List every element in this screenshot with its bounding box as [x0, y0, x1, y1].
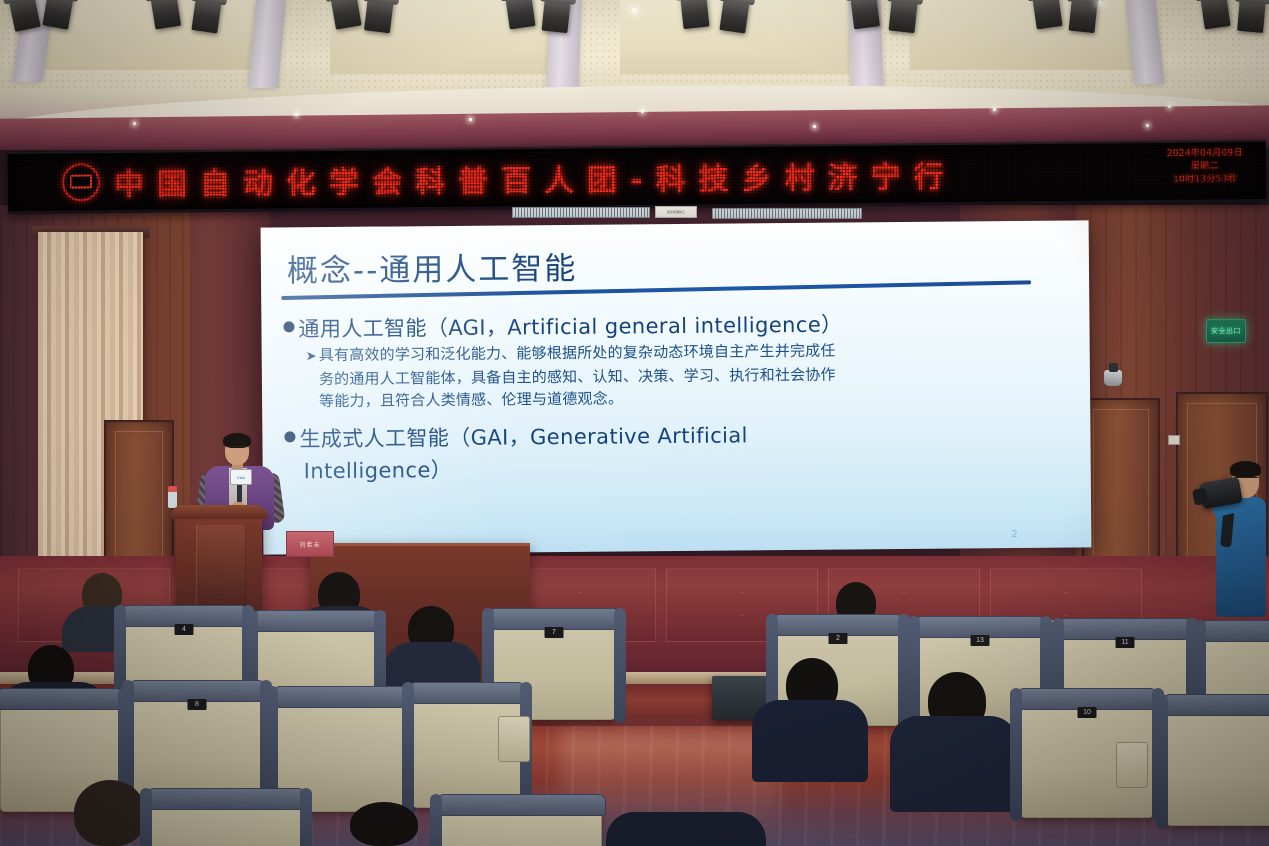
wall-switch-plate[interactable]: [1168, 435, 1180, 445]
led-banner: 中国自动化学会科普百人团-科技乡村济宁行 2024年04月09日 星期二 10时…: [8, 140, 1267, 214]
ceiling-spotlight: [542, 0, 571, 33]
subbullet-line-1-text: 具有高效的学习和泛化能力、能够根据所处的复杂动态环境自主产生并完成任: [319, 342, 836, 365]
seat[interactable]: [1166, 706, 1269, 826]
slide-bullet-2-line1: 生成式人工智能（GAI，Generative Artificial: [299, 419, 748, 453]
caa-emblem-icon: [62, 163, 100, 201]
podium-top: [170, 505, 268, 519]
seat-tray[interactable]: [1116, 742, 1148, 788]
slide-bullet-1-text: 通用人工智能（AGI，Artificial general intelligen…: [298, 309, 842, 344]
downlight: [1098, 0, 1103, 5]
wall-camera-icon: [1104, 370, 1122, 386]
downlight: [993, 108, 996, 111]
seat-number: 11: [1116, 637, 1135, 648]
slide-page-number: 2: [1012, 529, 1018, 540]
downlight: [632, 8, 637, 13]
subbullet-line-2-text: 务的通用人工智能体，具备自主的感知、认知、决策、学习、执行和社会协作: [319, 366, 836, 389]
seat-number: 7: [545, 627, 564, 638]
ceiling-spotlight: [150, 0, 181, 30]
seat[interactable]: [440, 806, 602, 846]
led-banner-text: 中国自动化学会科普百人团-科技乡村济宁行: [114, 151, 957, 203]
subbullet-line-3-text: 等能力，且符合人类情感、伦理与道德观念。: [319, 389, 623, 410]
downlight: [469, 118, 472, 121]
seat-number: 8: [188, 699, 207, 710]
audience-shoulder: [606, 812, 766, 846]
ceiling-spotlight: [330, 0, 362, 30]
name-card: 刘希未: [286, 531, 334, 557]
arrow-bullet-icon: ➤: [306, 349, 317, 364]
name-card-label: 刘希未: [299, 540, 320, 549]
bullet-dot-icon: [283, 321, 294, 332]
ceiling-spotlight: [364, 0, 394, 33]
speaker-glasses: [226, 446, 248, 452]
ceiling-spotlight: [1200, 0, 1230, 29]
vent-notice-label: 投影机散热口: [655, 206, 697, 218]
seat-number: 13: [971, 635, 990, 646]
downlight: [1168, 105, 1171, 108]
lecture-hall-photo: 安全出口 中国自动化学会科普百人团-科技乡村济宁行 2024年04月09日 星期…: [0, 0, 1269, 846]
slide-bullet-2-line2: Intelligence）: [304, 454, 453, 485]
water-bottle: [168, 486, 177, 508]
seat-number: 2: [829, 633, 848, 644]
led-clock: 2024年04月09日 星期二 10时13分53秒: [1156, 147, 1254, 187]
ceiling-spotlight: [1237, 0, 1266, 33]
downlight: [133, 122, 136, 125]
ceiling-spotlight: [889, 0, 918, 33]
seat[interactable]: [150, 800, 302, 846]
led-date: 2024年04月09日: [1156, 147, 1254, 161]
led-time: 10时13分53秒: [1156, 173, 1254, 187]
downlight: [295, 113, 298, 116]
ceiling: [0, 0, 1269, 150]
slide-title: 概念--通用人工智能: [287, 243, 578, 291]
microphone-handle: [237, 482, 242, 502]
ceiling-spotlight: [719, 0, 749, 33]
slide-bullet-1: 通用人工智能（AGI，Artificial general intelligen…: [283, 309, 842, 344]
exit-sign-label: 安全出口: [1211, 326, 1241, 336]
slide-bullet-2: 生成式人工智能（GAI，Generative Artificial: [284, 419, 748, 453]
ceiling-spotlight: [850, 0, 880, 29]
seat-number: 10: [1078, 707, 1097, 718]
audience-head: [74, 780, 146, 846]
ceiling-spotlight: [680, 0, 709, 29]
downlight: [641, 110, 644, 113]
exit-sign: 安全出口: [1206, 319, 1246, 343]
seat-tray[interactable]: [498, 716, 530, 762]
bullet-dot-icon: [284, 431, 295, 442]
downlight: [813, 125, 816, 128]
slide-subbullet-1: ➤具有高效的学习和泛化能力、能够根据所处的复杂动态环境自主产生并完成任 务的通用…: [306, 338, 1067, 413]
led-weekday: 星期二: [1156, 160, 1254, 174]
downlight: [1146, 124, 1149, 127]
audience-head: [350, 802, 418, 846]
ceiling-spotlight: [1032, 0, 1062, 29]
ceiling-spotlight: [191, 0, 221, 33]
ceiling-spotlight: [505, 0, 535, 29]
ceiling-spotlight: [1069, 0, 1098, 33]
projection-screen: 概念--通用人工智能 通用人工智能（AGI，Artificial general…: [261, 220, 1092, 554]
microphone-flag-icon: CAA: [230, 469, 252, 485]
ac-vent: [712, 208, 862, 219]
audience-shoulder: [890, 716, 1018, 812]
ac-vent: [512, 207, 650, 218]
cameraman-hair: [1230, 461, 1261, 477]
seat-number: 4: [175, 624, 194, 635]
audience-shoulder: [752, 700, 868, 782]
